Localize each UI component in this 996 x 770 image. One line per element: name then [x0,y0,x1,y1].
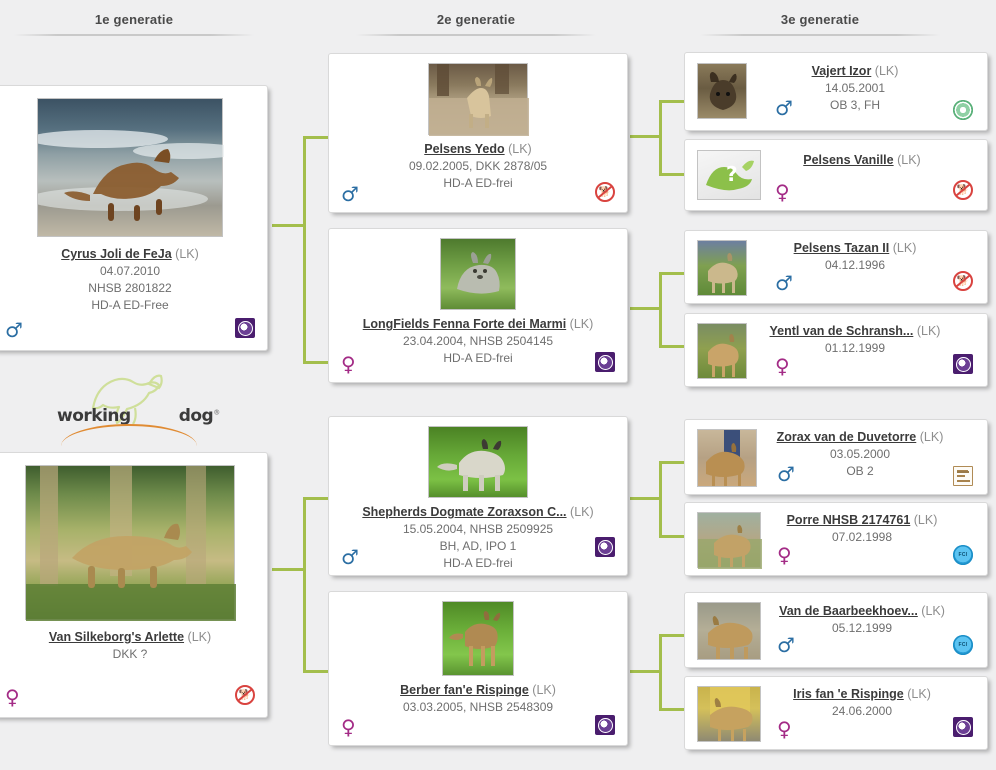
connector-g2b-to-sire [659,272,685,275]
dog-photo[interactable] [442,601,514,676]
badge-green-seal-icon[interactable] [953,100,973,120]
dog-birthdate: 07.02.1998 [773,529,951,546]
dog-name-line: Iris fan 'e Rispinge (LK) [773,686,951,703]
dog-name-link[interactable]: Berber fan'e Rispinge [400,683,529,697]
dog-on-show-ring-illustration [698,241,748,297]
badge-purple-square-dog-icon[interactable] [595,715,615,735]
connector-g1f-stem [272,568,306,571]
logo-orange-arc [61,424,197,446]
generation-header-2: 2e generatie [356,12,596,36]
connector-g2b-stem [630,307,662,310]
dog-breed-code: (LK) [188,630,212,644]
logo-word-working: working [57,406,131,426]
sex-icon-female: ♀ [341,354,356,374]
badge-no-dog-icon[interactable]: 🐕 [953,271,973,291]
dog-health: HD-A ED-frei [329,555,627,572]
dog-name-link[interactable]: Vajert Izor [812,64,872,78]
pedigree-card-gen2-3[interactable]: Shepherds Dogmate Zoraxson C... (LK) 15.… [328,416,628,576]
sex-icon-female: ♀ [777,545,792,565]
tan-dog-on-forest-path-illustration [429,64,529,136]
dog-birthdate: 03.05.2000 [769,446,951,463]
sex-icon-female: ♀ [775,356,790,376]
dog-with-handler-illustration [698,430,758,488]
pedigree-card-gen3-4[interactable]: Yentl van de Schransh... (LK) 01.12.1999… [684,313,988,387]
dog-breed-code: (LK) [570,317,594,331]
logo-word-dog: dog [179,406,214,426]
dog-breed-code: (LK) [175,247,199,261]
dog-standing-on-lawn-illustration [429,427,529,499]
connector-g1m-stem [272,224,306,227]
sex-icon-female: ♀ [5,687,20,707]
sex-icon-male: ♂ [777,464,795,484]
connector-g1m-to-dam [303,361,330,364]
connector-g2b-bus [659,272,662,348]
dog-birthdate: 05.12.1999 [773,620,951,637]
dog-birthdate: 04.07.2010 [0,263,267,280]
dog-name-link[interactable]: Iris fan 'e Rispinge [793,687,904,701]
dog-breed-code: (LK) [532,683,556,697]
dog-health: HD-A ED-frei [329,350,627,367]
grey-dog-lying-on-grass-illustration [441,239,517,311]
pedigree-card-gen3-8[interactable]: Iris fan 'e Rispinge (LK) 24.06.2000 ♀ [684,676,988,750]
sex-icon-male: ♂ [341,184,359,204]
dog-breed-code: (LK) [914,513,938,527]
sex-icon-female: ♀ [777,719,792,739]
dog-photo[interactable] [697,602,761,660]
dog-breed-code: (LK) [907,687,931,701]
pedigree-card-gen2-2[interactable]: LongFields Fenna Forte dei Marmi (LK) 23… [328,228,628,383]
dog-photo[interactable] [37,98,223,237]
dog-against-yellow-backdrop-illustration [698,687,762,743]
dog-name-link[interactable]: Cyrus Joli de FeJa [61,247,171,261]
connector-g2c-stem [630,497,662,500]
tan-dog-stacked-illustration [698,324,748,380]
sex-icon-male: ♂ [775,98,793,118]
dog-breed-code: (LK) [920,430,944,444]
badge-fci-seal-icon[interactable]: FCI [953,635,973,655]
dog-birth-registration: 15.05.2004, NHSB 2509925 [329,521,627,538]
connector-g1f-to-sire [303,497,330,500]
connector-g2b-to-dam [659,345,685,348]
dog-photo[interactable] [697,512,761,568]
dog-photo-placeholder[interactable]: ? [697,150,761,200]
dog-photo[interactable] [697,686,761,742]
connector-g1f-to-dam [303,670,330,673]
pedigree-card-gen3-6[interactable]: Porre NHSB 2174761 (LK) 07.02.1998 ♀ FCI [684,502,988,576]
dog-name-line: Zorax van de Duvetorre (LK) [769,429,951,446]
connector-g2c-to-dam [659,535,685,538]
dog-registration: NHSB 2801822 [0,280,267,297]
dog-photo[interactable] [428,63,528,135]
dog-health: HD-A ED-frei [329,175,627,192]
connector-g2d-to-sire [659,634,685,637]
dog-name-line: Van de Baarbeekhoev... (LK) [773,603,951,620]
dog-breed-code: (LK) [921,604,945,618]
dog-name-line: Vajert Izor (LK) [759,63,951,80]
pedigree-card-gen3-5[interactable]: Zorax van de Duvetorre (LK) 03.05.2000 O… [684,419,988,495]
dog-name-link[interactable]: LongFields Fenna Forte dei Marmi [363,317,567,331]
connector-g2a-bus [659,100,662,176]
connector-g2a-to-sire [659,100,685,103]
dog-breed-code: (LK) [570,505,594,519]
connector-g1m-to-sire [303,136,330,139]
dog-name-line: Pelsens Yedo (LK) [329,141,627,158]
connector-g2d-to-dam [659,708,685,711]
dog-breed-code: (LK) [508,142,532,156]
pedigree-card-gen1-sire[interactable]: Cyrus Joli de FeJa (LK) 04.07.2010 NHSB … [0,85,268,351]
dog-name-line: Cyrus Joli de FeJa (LK) [0,246,267,263]
generation-header-1: 1e generatie [14,12,254,36]
pedigree-card-gen3-7[interactable]: Van de Baarbeekhoev... (LK) 05.12.1999 ♂… [684,592,988,668]
pedigree-card-gen2-4[interactable]: Berber fan'e Rispinge (LK) 03.03.2005, N… [328,591,628,746]
dog-name-line: Berber fan'e Rispinge (LK) [329,682,627,699]
dog-breed-code: (LK) [897,153,921,167]
sex-icon-male: ♂ [775,273,793,293]
badge-no-dog-icon[interactable]: 🐕 [235,685,255,705]
dog-name-link[interactable]: Yentl van de Schransh... [770,324,914,338]
dog-name-link[interactable]: Pelsens Yedo [424,142,504,156]
dog-birth-registration: 23.04.2004, NHSB 2504145 [329,333,627,350]
connector-g1f-bus [303,497,306,673]
badge-purple-square-dog-icon[interactable] [953,717,973,737]
generation-header-2-label: 2e generatie [356,12,596,34]
generation-header-2-rule [356,34,596,36]
pedigree-card-gen1-dam[interactable]: Van Silkeborg's Arlette (LK) DKK ? ♀ 🐕 [0,452,268,718]
dog-name-line: Pelsens Vanille (LK) [773,152,951,169]
generation-header-3: 3e generatie [700,12,940,36]
pedigree-card-gen3-2[interactable]: ? Pelsens Vanille (LK) ♀ 🐕 [684,139,988,211]
sex-icon-male: ♂ [5,320,23,340]
sex-icon-male: ♂ [777,635,795,655]
generation-header-1-rule [14,34,254,36]
dog-name-link[interactable]: Van de Baarbeekhoev... [779,604,918,618]
connector-g2c-bus [659,461,662,538]
connector-g2d-bus [659,634,662,711]
dog-titles: BH, AD, IPO 1 [329,538,627,555]
dog-name-link[interactable]: Shepherds Dogmate Zoraxson C... [362,505,566,519]
dog-photo[interactable] [428,426,528,498]
dog-birth-registration: 03.03.2005, NHSB 2548309 [329,699,627,716]
dog-in-open-field-illustration [698,513,762,569]
sex-icon-female: ♀ [341,717,356,737]
badge-fci-seal-icon[interactable]: FCI [953,545,973,565]
badge-pedigree-document-icon[interactable] [953,466,973,486]
working-dog-wordmark: workingdog® [57,406,207,426]
dog-birthdate: 14.05.2001 [759,80,951,97]
connector-g1m-bus [303,136,306,364]
dog-name-link[interactable]: Van Silkeborg's Arlette [49,630,184,644]
connector-g2c-to-sire [659,461,685,464]
dog-photo[interactable] [697,323,747,379]
generation-header-bar: 1e generatie 2e generatie 3e generatie [0,0,996,46]
badge-purple-square-dog-icon[interactable] [595,352,615,372]
pedigree-card-gen3-1[interactable]: Vajert Izor (LK) 14.05.2001 OB 3, FH ♂ [684,52,988,131]
brown-dog-standing-illustration [443,602,515,677]
dog-photo[interactable] [697,429,757,487]
sex-icon-female: ♀ [775,182,790,202]
question-mark-placeholder-icon: ? [698,151,762,201]
dog-breed-code: (LK) [875,64,899,78]
badge-purple-square-dog-icon[interactable] [235,318,255,338]
svg-text:?: ? [726,162,738,186]
dog-name-link[interactable]: Pelsens Vanille [803,153,893,167]
pedigree-card-gen3-3[interactable]: Pelsens Tazan II (LK) 04.12.1996 ♂ 🐕 [684,230,988,304]
dog-running-in-sea-waves-illustration [38,99,224,238]
dog-name-link[interactable]: Zorax van de Duvetorre [777,430,917,444]
dog-registration: DKK ? [0,646,267,663]
badge-purple-square-dog-icon[interactable] [595,537,615,557]
generation-header-3-label: 3e generatie [700,12,940,34]
pedigree-card-gen2-1[interactable]: Pelsens Yedo (LK) 09.02.2005, DKK 2878/0… [328,53,628,213]
dog-name-line: Porre NHSB 2174761 (LK) [773,512,951,529]
dog-photo[interactable] [440,238,516,310]
connector-g2a-to-dam [659,173,685,176]
dog-birthdate: 24.06.2000 [773,703,951,720]
dog-photo[interactable] [697,240,747,296]
dog-titles: OB 2 [769,463,951,480]
working-dog-logo: workingdog® [55,370,205,442]
badge-no-dog-icon[interactable]: 🐕 [595,182,615,202]
generation-header-3-rule [700,34,940,36]
dog-name-link[interactable]: Porre NHSB 2174761 [787,513,911,527]
dog-name-link[interactable]: Pelsens Tazan II [794,241,890,255]
dog-breed-code: (LK) [893,241,917,255]
dog-standing-in-forest-illustration [26,466,236,621]
dark-dog-head-illustration [698,64,748,120]
dog-breed-code: (LK) [917,324,941,338]
badge-no-dog-icon[interactable]: 🐕 [953,180,973,200]
sex-icon-male: ♂ [341,547,359,567]
dog-health: HD-A ED-Free [0,297,267,314]
connector-g2d-stem [630,670,662,673]
dog-name-line: Pelsens Tazan II (LK) [759,240,951,257]
dog-name-line: Yentl van de Schransh... (LK) [759,323,951,340]
dog-photo[interactable] [697,63,747,119]
dog-name-line: Shepherds Dogmate Zoraxson C... (LK) [329,504,627,521]
dog-name-line: Van Silkeborg's Arlette (LK) [0,629,267,646]
logo-registered-mark: ® [213,408,220,416]
dog-photo[interactable] [25,465,235,620]
dog-standing-outdoors-illustration [698,603,762,661]
dog-birth-registration: 09.02.2005, DKK 2878/05 [329,158,627,175]
generation-header-1-label: 1e generatie [14,12,254,34]
badge-purple-square-dog-icon[interactable] [953,354,973,374]
dog-name-line: LongFields Fenna Forte dei Marmi (LK) [329,316,627,333]
connector-g2a-stem [630,135,662,138]
